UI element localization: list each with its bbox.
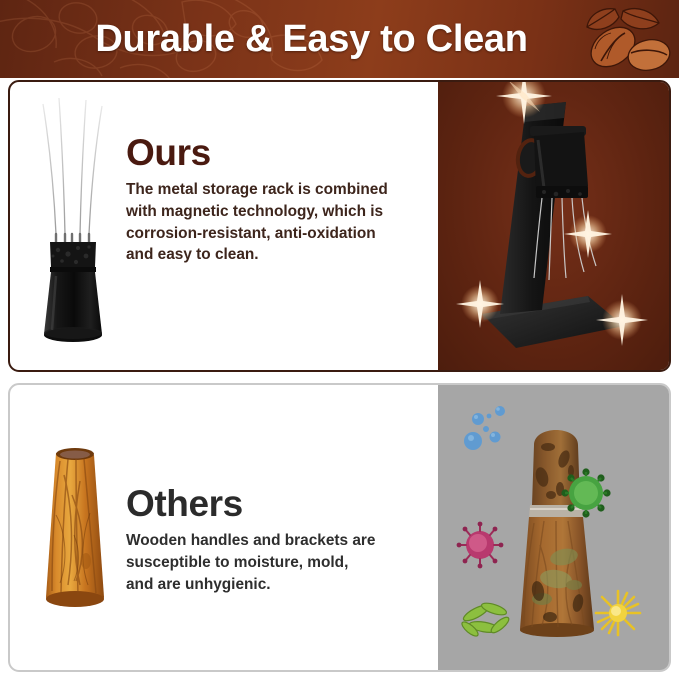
blue-cocci-cluster-germ-icon xyxy=(464,406,505,450)
others-text-block: Others Wooden handles and brackets are s… xyxy=(126,485,436,595)
pink-virus-germ-icon xyxy=(457,522,504,569)
ours-text-block: Ours The metal storage rack is combined … xyxy=(126,134,436,266)
comparison-card-ours: Ours The metal storage rack is combined … xyxy=(8,80,671,372)
magnetic-stand-photo xyxy=(438,82,669,370)
green-virus-germ-icon xyxy=(561,468,610,517)
ours-body-text: The metal storage rack is combined with … xyxy=(126,179,436,267)
header-banner: Durable & Easy to Clean xyxy=(0,0,679,78)
ours-heading: Ours xyxy=(126,134,436,173)
sparkle-icon xyxy=(564,210,612,258)
moldy-handle-panel xyxy=(438,385,669,670)
sparkle-icon xyxy=(596,294,648,346)
others-heading: Others xyxy=(126,485,436,524)
coffee-beans-icon xyxy=(571,3,675,77)
black-wdt-distribution-tool-photo xyxy=(10,82,140,370)
wooden-tapered-handle-photo xyxy=(10,385,140,670)
magnetic-stand-panel xyxy=(438,82,669,370)
yellow-spiky-germ-icon xyxy=(596,591,640,635)
green-rod-bacteria-germ-icon xyxy=(460,601,511,639)
comparison-card-others: Others Wooden handles and brackets are s… xyxy=(8,383,671,672)
moldy-wooden-handle-photo xyxy=(438,385,669,670)
others-body-text: Wooden handles and brackets are suscepti… xyxy=(126,530,436,596)
